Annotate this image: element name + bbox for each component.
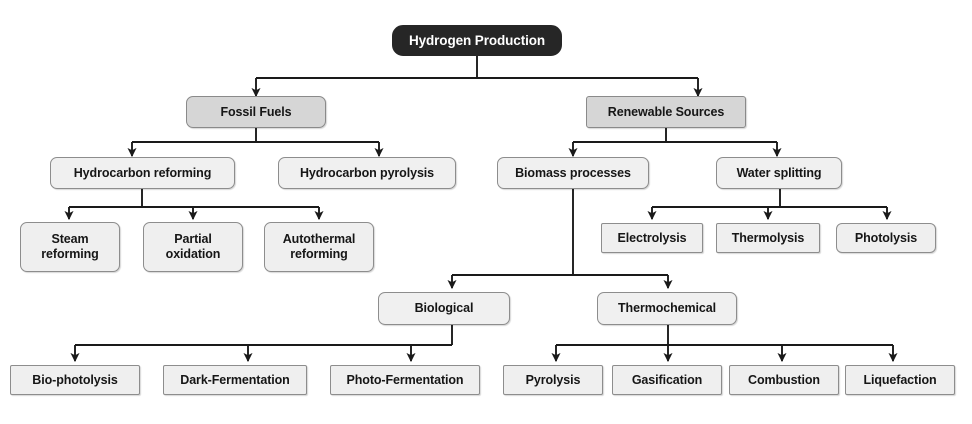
node-label: Combustion (748, 373, 820, 388)
hydrogen-production-diagram: Hydrogen Production Fossil Fuels Renewab… (0, 0, 972, 424)
node-label: Hydrocarbon reforming (74, 166, 212, 181)
node-fossil-fuels[interactable]: Fossil Fuels (186, 96, 326, 128)
node-label: Biological (415, 301, 474, 316)
node-hydrocarbon-pyrolysis[interactable]: Hydrocarbon pyrolysis (278, 157, 456, 189)
node-label: Fossil Fuels (220, 105, 291, 120)
node-label: Electrolysis (618, 231, 687, 246)
node-autothermal-reforming[interactable]: Autothermal reforming (264, 222, 374, 272)
node-dark-fermentation[interactable]: Dark-Fermentation (163, 365, 307, 395)
node-renewable-sources[interactable]: Renewable Sources (586, 96, 746, 128)
node-label-line1: Autothermal (283, 232, 356, 247)
node-label: Hydrocarbon pyrolysis (300, 166, 434, 181)
node-photolysis[interactable]: Photolysis (836, 223, 936, 253)
node-thermochemical[interactable]: Thermochemical (597, 292, 737, 325)
node-partial-oxidation[interactable]: Partial oxidation (143, 222, 243, 272)
node-thermolysis[interactable]: Thermolysis (716, 223, 820, 253)
node-gasification[interactable]: Gasification (612, 365, 722, 395)
node-electrolysis[interactable]: Electrolysis (601, 223, 703, 253)
node-hydrogen-production[interactable]: Hydrogen Production (392, 25, 562, 56)
node-biomass-processes[interactable]: Biomass processes (497, 157, 649, 189)
node-label: Thermochemical (618, 301, 716, 316)
node-label: Dark-Fermentation (180, 373, 289, 388)
node-label-line2: reforming (41, 247, 98, 262)
node-steam-reforming[interactable]: Steam reforming (20, 222, 120, 272)
connector-layer (0, 0, 972, 424)
node-label: Hydrogen Production (409, 33, 545, 49)
node-liquefaction[interactable]: Liquefaction (845, 365, 955, 395)
node-label: Water splitting (737, 166, 822, 181)
node-pyrolysis[interactable]: Pyrolysis (503, 365, 603, 395)
node-label-line1: Partial (174, 232, 212, 247)
node-label-line1: Steam (51, 232, 88, 247)
node-label: Photo-Fermentation (347, 373, 464, 388)
node-hydrocarbon-reforming[interactable]: Hydrocarbon reforming (50, 157, 235, 189)
node-photo-fermentation[interactable]: Photo-Fermentation (330, 365, 480, 395)
node-label-line2: reforming (290, 247, 347, 262)
node-bio-photolysis[interactable]: Bio-photolysis (10, 365, 140, 395)
node-combustion[interactable]: Combustion (729, 365, 839, 395)
node-biological[interactable]: Biological (378, 292, 510, 325)
node-label-line2: oxidation (166, 247, 221, 262)
node-label: Thermolysis (732, 231, 805, 246)
node-label: Photolysis (855, 231, 917, 246)
node-label: Renewable Sources (608, 105, 724, 120)
node-label: Pyrolysis (526, 373, 581, 388)
node-water-splitting[interactable]: Water splitting (716, 157, 842, 189)
node-label: Liquefaction (863, 373, 936, 388)
node-label: Biomass processes (515, 166, 631, 181)
node-label: Gasification (632, 373, 702, 388)
node-label: Bio-photolysis (32, 373, 117, 388)
